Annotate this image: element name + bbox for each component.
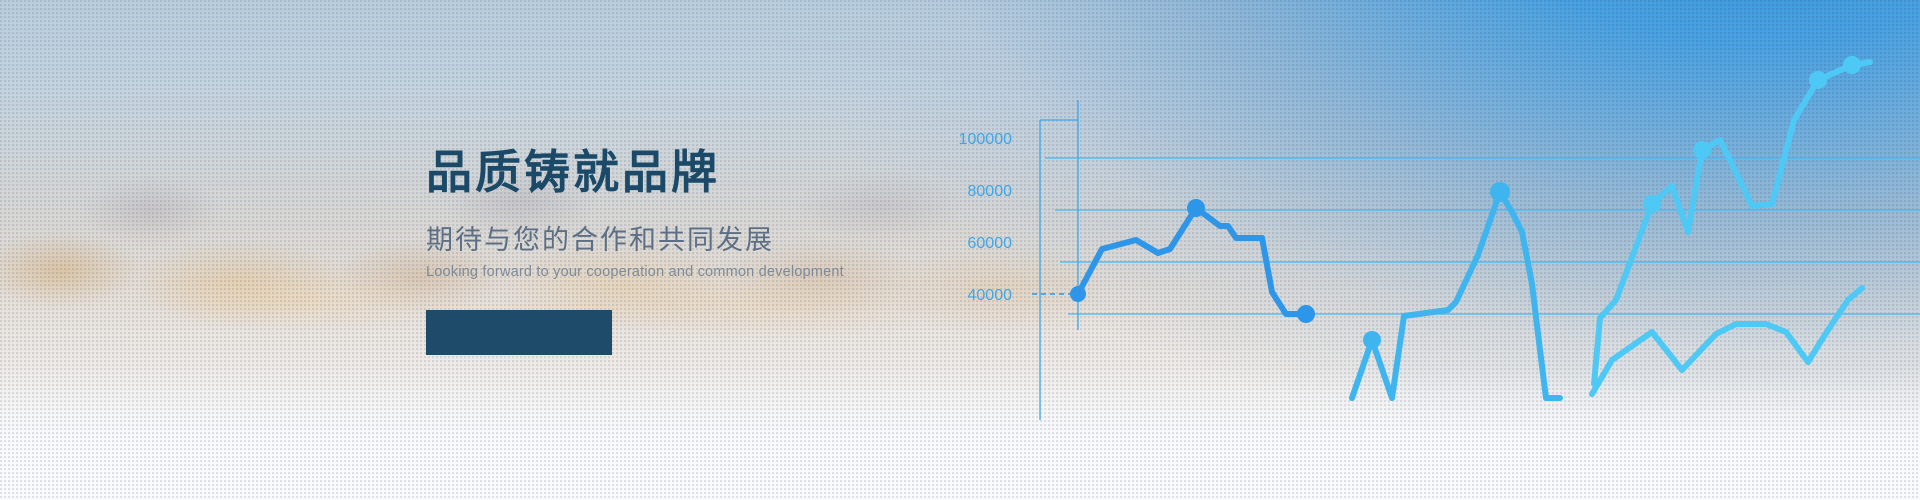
chart-svg: 100000 80000 60000 40000 — [900, 0, 1920, 500]
data-point — [1643, 195, 1661, 213]
data-point — [1693, 141, 1711, 159]
data-point — [1363, 331, 1381, 349]
y-tick-label: 40000 — [968, 287, 1013, 304]
cta-button[interactable] — [426, 310, 612, 355]
hero-subtitle: 期待与您的合作和共同发展 — [426, 218, 896, 257]
data-point — [1187, 199, 1205, 217]
data-point — [1809, 71, 1827, 89]
hero-banner: 品质铸就品牌 期待与您的合作和共同发展 Looking forward to y… — [0, 0, 1920, 500]
chart-axis-frame — [1040, 100, 1078, 420]
line-chart: 100000 80000 60000 40000 — [900, 0, 1920, 500]
data-point — [1843, 56, 1861, 74]
y-axis-tick-labels: 100000 80000 60000 40000 — [959, 131, 1012, 304]
y-tick-label: 80000 — [968, 183, 1013, 200]
y-tick-label: 100000 — [959, 131, 1012, 148]
data-point — [1490, 182, 1510, 202]
hero-subtitle-english: Looking forward to your cooperation and … — [426, 264, 896, 280]
hero-copy: 品质铸就品牌 期待与您的合作和共同发展 Looking forward to y… — [426, 148, 896, 280]
series-2-markers — [1363, 182, 1510, 349]
series-3-line — [1594, 62, 1870, 384]
page-title: 品质铸就品牌 — [426, 148, 896, 196]
series-1-line — [1078, 208, 1306, 314]
data-point — [1070, 286, 1086, 302]
series-4-line — [1592, 288, 1862, 394]
data-point — [1297, 305, 1315, 323]
y-tick-label: 60000 — [968, 235, 1013, 252]
series-2-line — [1352, 192, 1560, 398]
